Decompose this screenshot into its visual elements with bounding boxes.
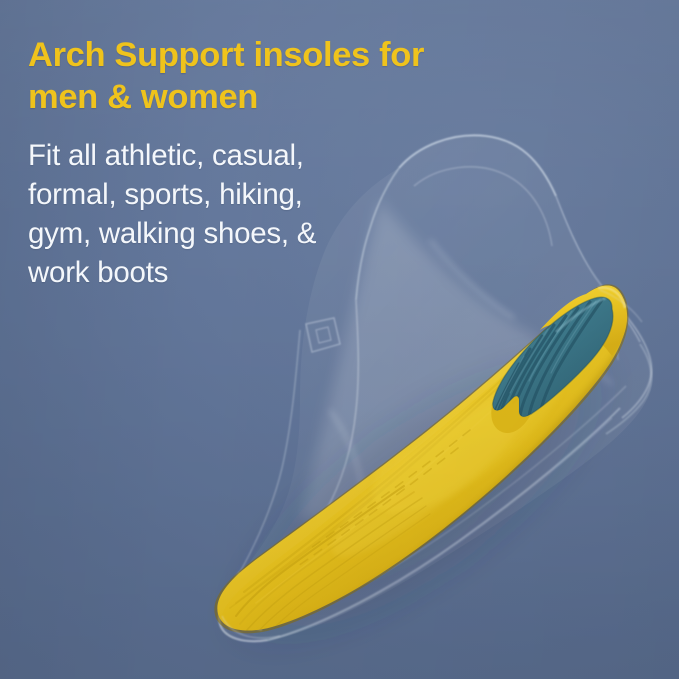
marketing-copy-block: Arch Support insoles for men & women Fit… [28,34,568,292]
page-title: Arch Support insoles for men & women [28,34,568,118]
subtitle-text: Fit all athletic, casual, formal, sports… [28,118,568,292]
product-feature-image: Arch Support insoles for men & women Fit… [0,0,679,679]
